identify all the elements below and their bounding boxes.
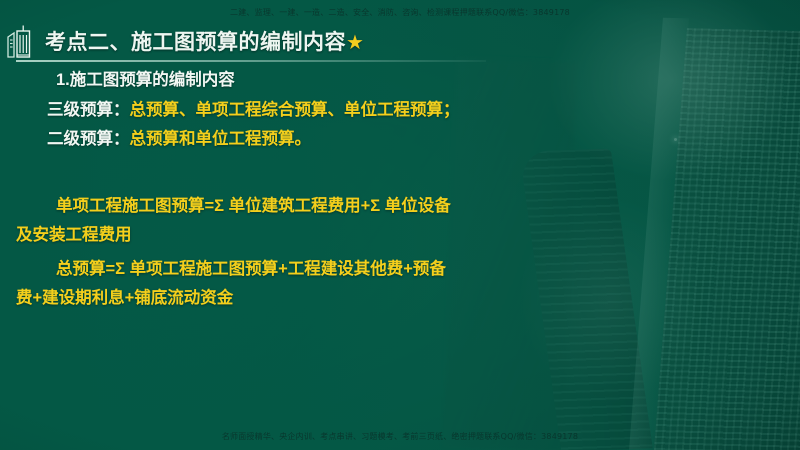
page-title: 考点二、施工图预算的编制内容★ <box>45 26 364 56</box>
star-icon: ★ <box>346 32 364 54</box>
body-heading: 1.施工图预算的编制内容 <box>16 72 650 89</box>
formula-line: 总预算=Σ 单项工程施工图预算+工程建设其他费+预备 <box>16 261 650 278</box>
watermark-bottom: 名师面授精华、央企内训、考点串讲、习题模考、考前三页纸、绝密押题联系QQ/微信：… <box>0 431 800 442</box>
list-item: 二级预算：总预算和单位工程预算。 <box>16 131 650 148</box>
list-item-label: 二级预算： <box>47 130 130 148</box>
spacer <box>16 181 650 198</box>
title-divider <box>16 60 486 62</box>
slide-body: 1.施工图预算的编制内容 三级预算：总预算、单项工程综合预算、单位工程预算； 二… <box>16 72 650 307</box>
slide-header: 考点二、施工图预算的编制内容★ <box>6 24 364 58</box>
spacer <box>16 148 650 181</box>
formula-line: 及安装工程费用 <box>16 227 650 244</box>
formula-line: 单项工程施工图预算=Σ 单位建筑工程费用+Σ 单位设备 <box>16 198 650 215</box>
spacer <box>16 244 650 261</box>
watermark-top: 二建、监理、一建、一造、二造、安全、消防、咨询、检测课程押题联系QQ/微信：38… <box>0 7 800 18</box>
list-item-value: 总预算、单项工程综合预算、单位工程预算； <box>130 101 460 119</box>
slide-canvas: 二建、监理、一建、一造、二造、安全、消防、咨询、检测课程押题联系QQ/微信：38… <box>0 0 800 450</box>
list-item: 三级预算：总预算、单项工程综合预算、单位工程预算； <box>16 102 650 119</box>
page-title-text: 考点二、施工图预算的编制内容 <box>45 31 346 54</box>
list-item-label: 三级预算： <box>47 101 130 119</box>
building-icon <box>6 24 36 58</box>
list-item-value: 总预算和单位工程预算。 <box>130 130 312 148</box>
formula-line: 费+建设期利息+铺底流动资金 <box>16 290 650 307</box>
